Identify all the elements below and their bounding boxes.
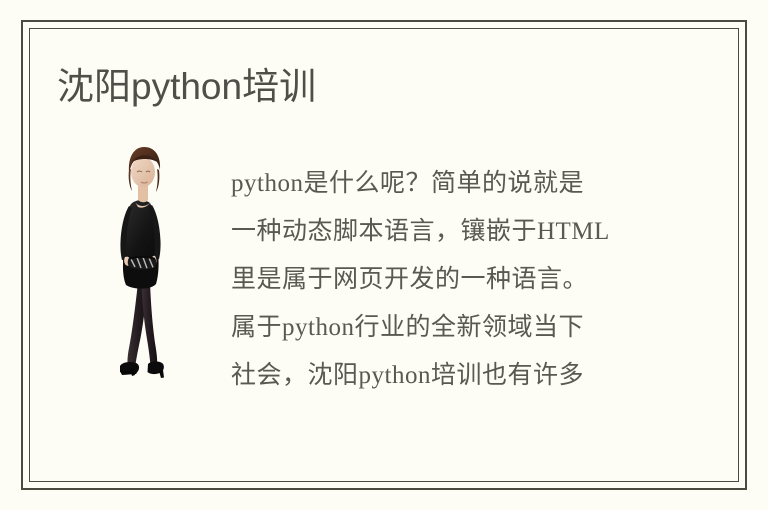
body-line: 一种动态脚本语言，镶嵌于HTML	[231, 208, 661, 256]
body-line: 里是属于网页开发的一种语言。	[231, 256, 661, 304]
body-line: 属于python行业的全新领域当下	[231, 304, 661, 352]
body-text: python是什么呢？简单的说就是 一种动态脚本语言，镶嵌于HTML 里是属于网…	[231, 160, 661, 400]
page-title: 沈阳python培训	[57, 64, 316, 110]
body-line: 社会，沈阳python培训也有许多	[231, 352, 661, 400]
body-line: python是什么呢？简单的说就是	[231, 160, 661, 208]
woman-photo	[98, 142, 190, 380]
page-canvas: 沈阳python培训	[0, 0, 768, 510]
